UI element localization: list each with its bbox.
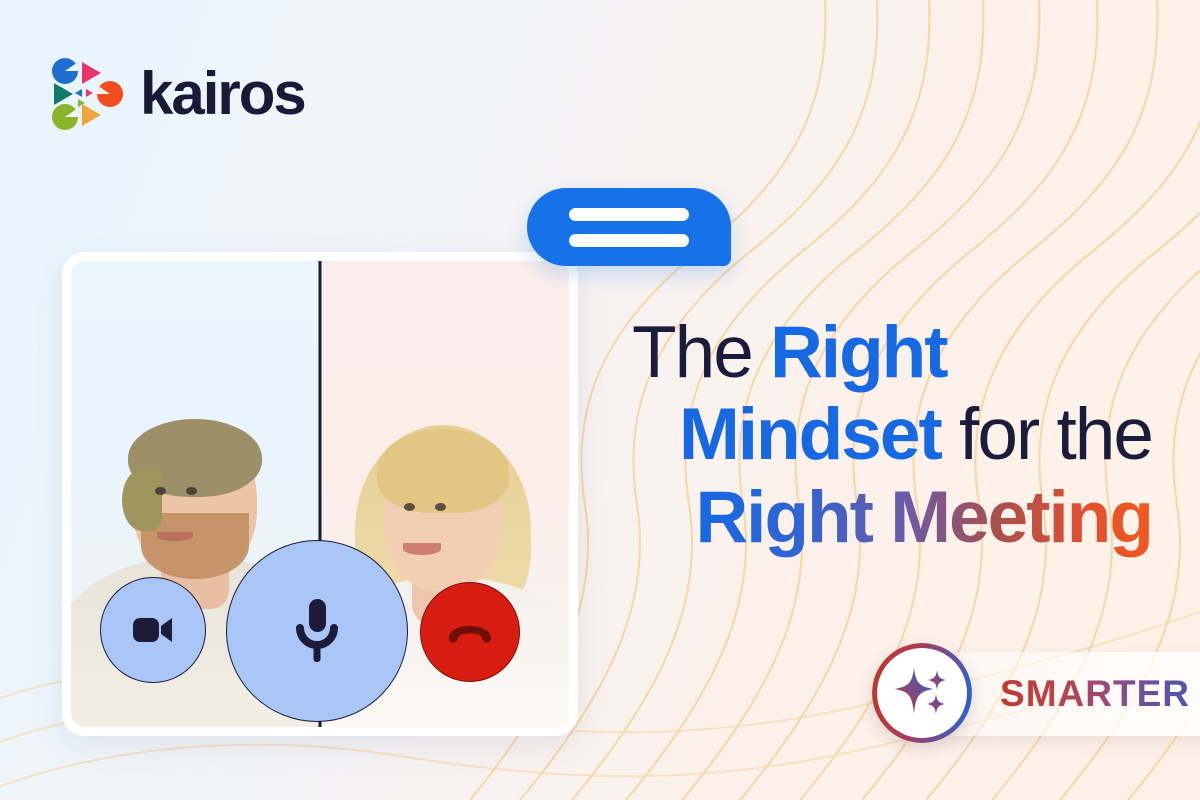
sparkles-icon — [872, 643, 972, 743]
call-controls — [62, 540, 578, 740]
status-badge[interactable]: SMARTER — [872, 643, 972, 743]
headline-line-1: The Right — [632, 312, 1152, 394]
headline-accent-2: Mindset — [679, 394, 941, 475]
headline-plain-1: The — [632, 312, 770, 393]
badge-label: SMARTER — [1000, 673, 1190, 715]
message-bubble-icon[interactable] — [527, 188, 731, 266]
page-title: The Right Mindset for the Right Meeting — [632, 312, 1152, 559]
badge-pill: SMARTER — [944, 652, 1200, 736]
headline-plain-2: for the — [941, 394, 1152, 475]
headline-line-2: Mindset for the — [632, 394, 1152, 476]
bubble-line-1 — [569, 208, 689, 221]
phone-hangup-icon — [446, 618, 494, 646]
toggle-camera-button[interactable] — [100, 577, 206, 683]
headline-gradient-3: Right Meeting — [695, 477, 1152, 558]
brand-logo[interactable]: kairos — [52, 56, 305, 132]
end-call-button[interactable] — [420, 582, 520, 682]
bubble-line-2 — [569, 234, 689, 247]
headline-line-3: Right Meeting — [632, 477, 1152, 559]
headline-accent-1: Right — [770, 312, 947, 393]
video-camera-icon — [132, 615, 174, 645]
toggle-microphone-button[interactable] — [226, 540, 408, 722]
brand-wordmark: kairos — [140, 64, 305, 124]
kairos-petal-mark-icon — [52, 56, 124, 132]
microphone-icon — [291, 597, 343, 665]
